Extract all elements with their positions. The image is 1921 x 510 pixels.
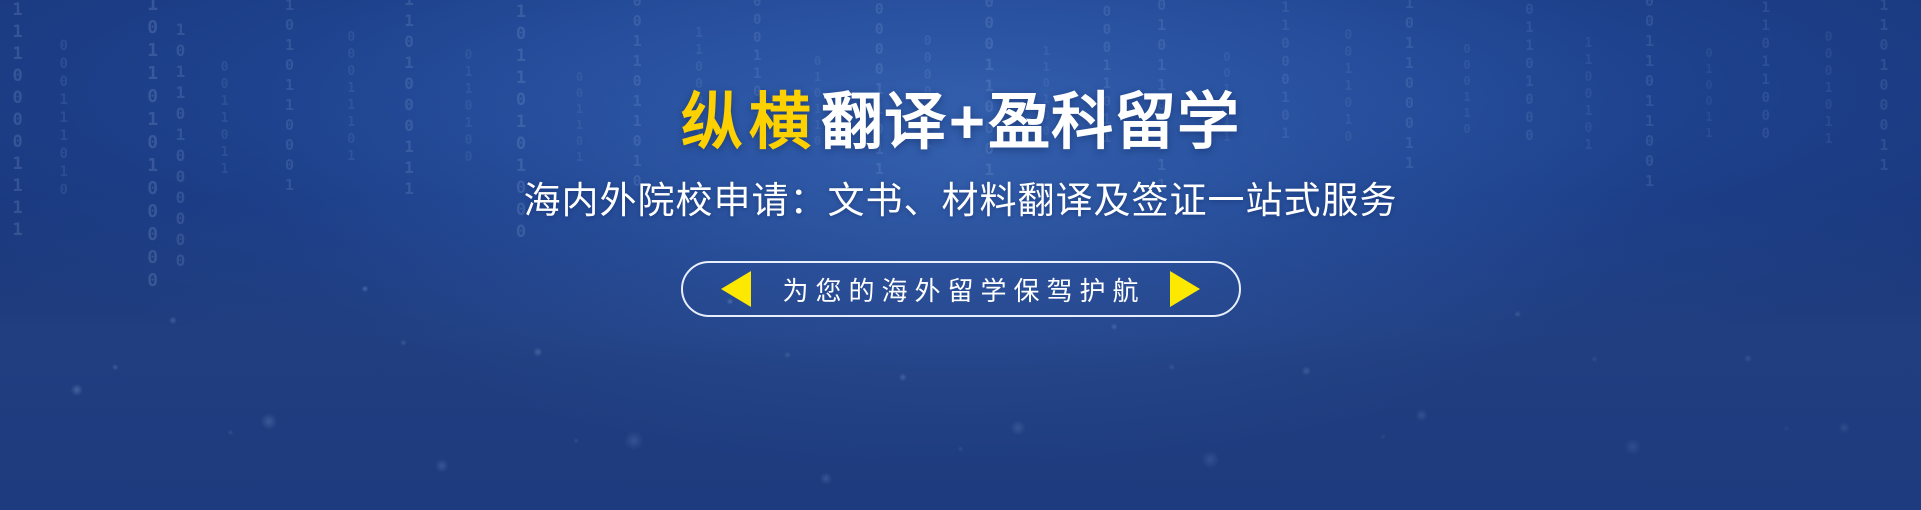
promo-banner: 1110000111100011101010110101000001011010… — [0, 0, 1921, 510]
headline-word-study-abroad: 盈科留学 — [988, 88, 1240, 157]
banner-headline: 纵横翻译+盈科留学 — [681, 92, 1240, 154]
headline-plus-symbol: + — [947, 88, 988, 157]
triangle-left-icon — [721, 271, 751, 307]
cta-label: 为您的海外留学保驾护航 — [775, 271, 1145, 308]
banner-content: 纵横翻译+盈科留学 海内外院校申请：文书、材料翻译及签证一站式服务 为您的海外留… — [0, 0, 1921, 510]
headline-brand-accent: 纵横 — [681, 88, 817, 157]
triangle-right-icon — [1170, 271, 1200, 307]
headline-word-translation: 翻译 — [821, 88, 947, 157]
cta-pill-button[interactable]: 为您的海外留学保驾护航 — [681, 261, 1241, 317]
banner-subheadline: 海内外院校申请：文书、材料翻译及签证一站式服务 — [524, 182, 1398, 219]
